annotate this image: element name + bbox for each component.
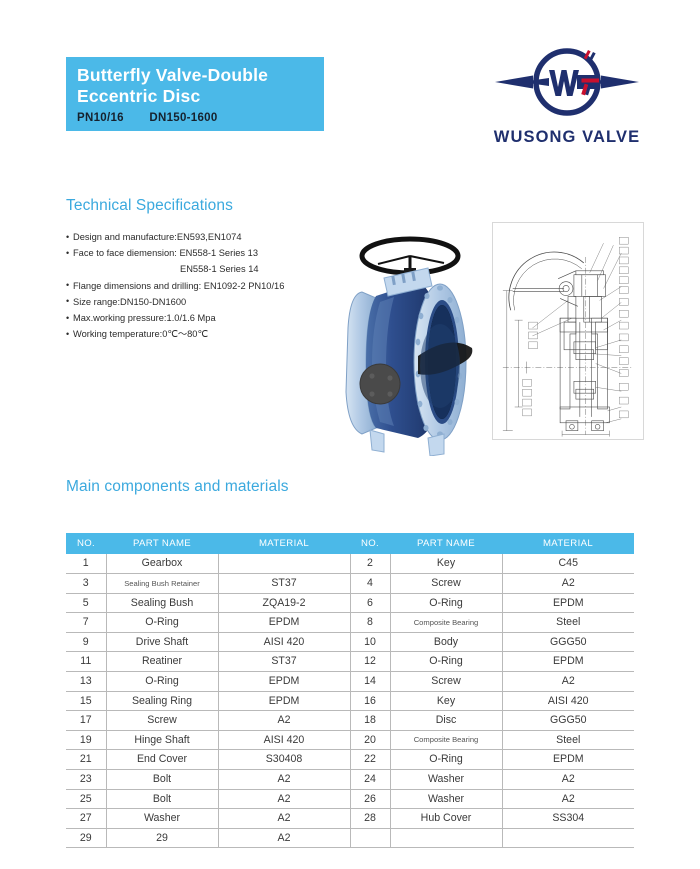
cell-no-right: 26 [350,789,390,809]
cell-no-right: 22 [350,750,390,770]
cell-partname-right: Disc [390,711,502,731]
cell-partname-right: Key [390,554,502,574]
cell-no-left: 13 [66,672,106,692]
table-row: 7O-RingEPDM8Composite BearingSteel [66,613,634,633]
col-material-right: MATERIAL [502,533,634,554]
cell-material-left: EPDM [218,613,350,633]
cell-material-right: A2 [502,789,634,809]
col-no-right: NO. [350,533,390,554]
cell-partname-right: Body [390,632,502,652]
cell-material-left: A2 [218,828,350,848]
cell-material-left: ST37 [218,574,350,594]
technical-specifications-list: Design and manufacture:EN593,EN1074 Face… [66,229,356,342]
table-row: 27WasherA228Hub CoverSS304 [66,809,634,829]
cell-material-right: C45 [502,554,634,574]
cell-partname-left: Drive Shaft [106,632,218,652]
cell-no-right: 10 [350,632,390,652]
table-row: 17ScrewA218DiscGGG50 [66,711,634,731]
technical-specifications-heading: Technical Specifications [66,197,233,215]
cell-no-right: 20 [350,730,390,750]
cell-material-left: A2 [218,809,350,829]
table-row: 9Drive ShaftAISI 42010BodyGGG50 [66,632,634,652]
cell-no-right: 16 [350,691,390,711]
main-components-heading: Main components and materials [66,478,289,496]
cell-material-right: A2 [502,672,634,692]
cell-partname-right: Screw [390,672,502,692]
cell-partname-right: Washer [390,770,502,790]
spec-text: Working temperature:0℃～80℃ [73,329,208,339]
cell-no-right: 12 [350,652,390,672]
cell-no-left: 19 [66,730,106,750]
cell-material-right: GGG50 [502,711,634,731]
table-row: 25BoltA226WasherA2 [66,789,634,809]
cell-no-right: 28 [350,809,390,829]
cell-partname-right [390,828,502,848]
cell-partname-right: O-Ring [390,750,502,770]
cell-no-right [350,828,390,848]
spec-text-continuation: EN558-1 Series 14 [73,261,356,277]
components-materials-table: NO. PART NAME MATERIAL NO. PART NAME MAT… [66,533,634,848]
cell-no-left: 11 [66,652,106,672]
cell-no-left: 23 [66,770,106,790]
cell-material-left: S30408 [218,750,350,770]
table-row: 1Gearbox2KeyC45 [66,554,634,574]
product-title-line2: Eccentric Disc [77,86,324,107]
cell-material-right: Steel [502,730,634,750]
spec-text: Design and manufacture:EN593,EN1074 [73,232,241,242]
company-logo: WUSONG VALVE [487,44,647,154]
col-partname-left: PART NAME [106,533,218,554]
col-partname-right: PART NAME [390,533,502,554]
cell-no-left: 5 [66,593,106,613]
cell-material-right: AISI 420 [502,691,634,711]
cell-partname-right: Screw [390,574,502,594]
cell-partname-left: Sealing Ring [106,691,218,711]
cell-no-left: 25 [66,789,106,809]
cell-material-right [502,828,634,848]
cell-partname-left: End Cover [106,750,218,770]
cell-no-left: 21 [66,750,106,770]
cell-no-left: 17 [66,711,106,731]
table-row: 21End CoverS3040822O-RingEPDM [66,750,634,770]
product-title-line1: Butterfly Valve-Double [77,65,324,86]
logo-mark-icon [487,44,647,126]
cell-partname-left: Reatiner [106,652,218,672]
cell-no-left: 27 [66,809,106,829]
cell-no-right: 14 [350,672,390,692]
cell-material-left: EPDM [218,672,350,692]
cell-material-left: EPDM [218,691,350,711]
cell-partname-left: 29 [106,828,218,848]
cell-material-right: Steel [502,613,634,633]
col-material-left: MATERIAL [218,533,350,554]
table-row: 15Sealing RingEPDM16KeyAISI 420 [66,691,634,711]
spec-item: Flange dimensions and drilling: EN1092-2… [66,278,356,294]
table-header-row: NO. PART NAME MATERIAL NO. PART NAME MAT… [66,533,634,554]
page-header: Butterfly Valve-Double Eccentric Disc PN… [0,0,700,175]
cell-partname-right: O-Ring [390,652,502,672]
cell-material-left: A2 [218,770,350,790]
spec-text: Max.working pressure:1.0/1.6 Mpa [73,313,216,323]
spec-item: Design and manufacture:EN593,EN1074 [66,229,356,245]
cell-partname-left: Bolt [106,789,218,809]
table-row: 19Hinge ShaftAISI 42020Composite Bearing… [66,730,634,750]
cell-material-left: A2 [218,789,350,809]
cell-material-right: A2 [502,770,634,790]
cell-material-right: SS304 [502,809,634,829]
cell-partname-right: Hub Cover [390,809,502,829]
spec-item: Size range:DN150-DN1600 [66,294,356,310]
cell-partname-left: Sealing Bush Retainer [106,574,218,594]
cell-material-left: A2 [218,711,350,731]
cell-material-left: ST37 [218,652,350,672]
cell-partname-right: Composite Bearing [390,613,502,633]
cell-no-right: 6 [350,593,390,613]
cell-no-right: 4 [350,574,390,594]
cell-material-left: AISI 420 [218,632,350,652]
cell-material-right: EPDM [502,750,634,770]
valve-product-image [332,216,492,456]
spec-item: Max.working pressure:1.0/1.6 Mpa [66,310,356,326]
cell-partname-right: Washer [390,789,502,809]
cell-no-left: 9 [66,632,106,652]
product-rating-line: PN10/16 DN150-1600 [77,112,324,124]
cell-partname-right: Key [390,691,502,711]
table-row: 2929A2 [66,828,634,848]
cell-partname-left: O-Ring [106,613,218,633]
pressure-rating: PN10/16 [77,112,124,124]
cell-material-left [218,554,350,574]
spec-text: Flange dimensions and drilling: EN1092-2… [73,281,284,291]
spec-text: Size range:DN150-DN1600 [73,297,186,307]
table-row: 13O-RingEPDM14ScrewA2 [66,672,634,692]
table-row: 5Sealing BushZQA19-26O-RingEPDM [66,593,634,613]
cell-no-right: 8 [350,613,390,633]
cell-no-right: 24 [350,770,390,790]
size-rating: DN150-1600 [149,112,217,124]
cell-no-right: 18 [350,711,390,731]
cell-partname-right: O-Ring [390,593,502,613]
cell-no-left: 3 [66,574,106,594]
table-row: 11ReatinerST3712O-RingEPDM [66,652,634,672]
cell-no-left: 29 [66,828,106,848]
cell-partname-left: Screw [106,711,218,731]
logo-wordmark: WUSONG VALVE [487,128,647,147]
cell-partname-left: O-Ring [106,672,218,692]
cell-no-left: 7 [66,613,106,633]
table-row: 23BoltA224WasherA2 [66,770,634,790]
cell-partname-right: Composite Bearing [390,730,502,750]
spec-item: Working temperature:0℃～80℃ [66,326,356,342]
cell-material-left: ZQA19-2 [218,593,350,613]
cell-no-right: 2 [350,554,390,574]
cell-partname-left: Sealing Bush [106,593,218,613]
cell-no-left: 15 [66,691,106,711]
col-no-left: NO. [66,533,106,554]
cell-partname-left: Hinge Shaft [106,730,218,750]
cell-partname-left: Bolt [106,770,218,790]
cell-material-right: EPDM [502,593,634,613]
cell-partname-left: Washer [106,809,218,829]
title-banner: Butterfly Valve-Double Eccentric Disc PN… [66,57,324,131]
cell-partname-left: Gearbox [106,554,218,574]
spec-text: Face to face diemension: EN558-1 Series … [73,248,258,258]
cell-material-right: EPDM [502,652,634,672]
spec-item: Face to face diemension: EN558-1 Series … [66,245,356,277]
cell-material-right: GGG50 [502,632,634,652]
cell-material-left: AISI 420 [218,730,350,750]
table-row: 3Sealing Bush RetainerST374ScrewA2 [66,574,634,594]
cell-material-right: A2 [502,574,634,594]
cell-no-left: 1 [66,554,106,574]
valve-technical-drawing [492,222,644,440]
